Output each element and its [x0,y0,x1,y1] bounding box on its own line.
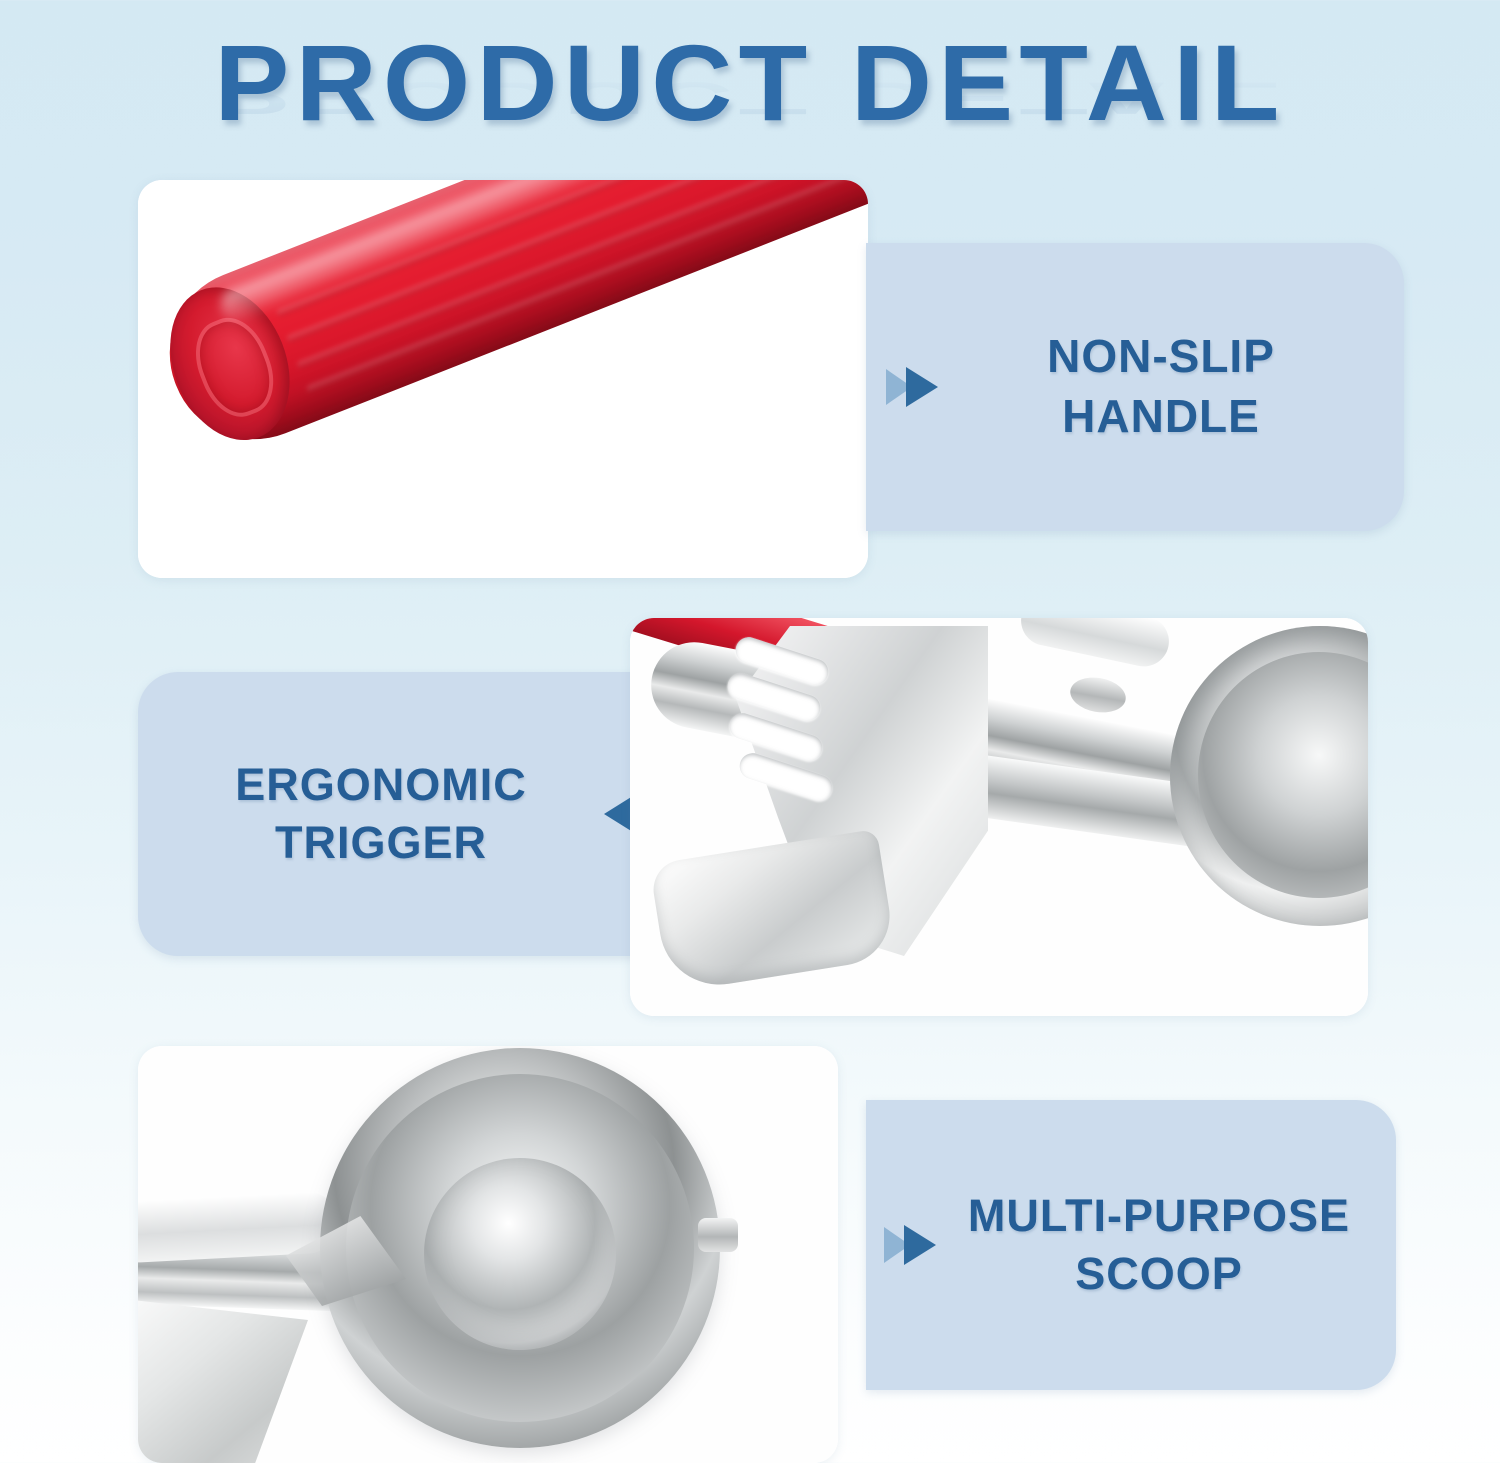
feature-photo-multi-purpose-scoop [138,1046,838,1463]
shaft-tab [1016,618,1173,671]
feature-photo-ergonomic-trigger [630,618,1368,1016]
page-title: PRODUCT DETAIL [0,26,1500,139]
thumb-paddle [649,829,897,993]
handle-photo [138,180,868,578]
product-detail-infographic: PRODUCT DETAIL PRODUCT DETAIL NON-SLIP H… [0,0,1500,1463]
double-arrow-right-icon [884,361,944,413]
feature-label-ergonomic-trigger: ERGONOMIC TRIGGER [138,672,678,956]
feature-label-text: MULTI-PURPOSE SCOOP [942,1187,1376,1304]
double-arrow-right-icon [882,1219,942,1271]
trigger-wing [138,1296,308,1463]
shaft-rivet [1067,673,1128,716]
scoop-bowl [1170,626,1368,926]
feature-label-non-slip-handle: NON-SLIP HANDLE [866,243,1404,531]
scoop-bowl-core [424,1158,616,1350]
handle-rib [306,180,868,394]
handle-endcap-ring [184,308,286,427]
feature-label-text: NON-SLIP HANDLE [944,327,1378,447]
feature-label-text: ERGONOMIC TRIGGER [164,756,598,873]
handle-highlight [216,180,868,327]
scoop-pivot-screw [698,1218,738,1252]
trigger-photo [630,618,1368,1016]
feature-photo-non-slip-handle [138,180,868,578]
red-handle-shape [145,180,868,464]
scoop-bowl-inner [1198,652,1368,898]
feature-label-multi-purpose-scoop: MULTI-PURPOSE SCOOP [866,1100,1396,1390]
scoop-bowl-rim [346,1074,694,1422]
scoop-photo [138,1046,838,1463]
